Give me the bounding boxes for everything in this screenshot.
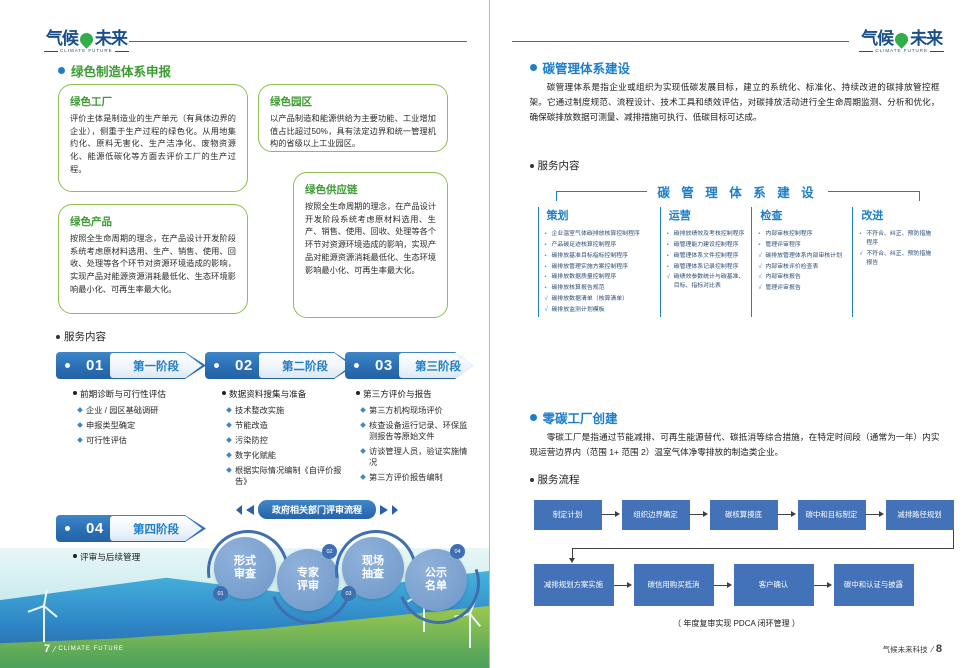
brand-name: 气候未来 xyxy=(46,30,127,47)
bullet-icon xyxy=(56,335,60,339)
header-rule xyxy=(512,41,850,42)
phase-label: 第一阶段 xyxy=(133,358,179,374)
left-page-heading-text: 绿色制造体系申报 xyxy=(71,61,171,80)
carbon-mgmt-body: 碳管理体系是指企业或组织为实现低碳发展目标，建立的系统化、标准化、持续改进的碳排… xyxy=(530,80,940,125)
page-right: 气候未来 CLIMATE FUTURE 碳管理体系建设 碳管理体系是指企业或组织… xyxy=(489,0,978,668)
carbon-mgmt-heading: 碳管理体系建设 xyxy=(530,58,631,77)
table-cell: √内部审核评价检查表 xyxy=(758,263,846,272)
phase-number: 02 xyxy=(235,357,253,374)
table-cell: √管理评审报告 xyxy=(758,284,846,293)
brand-logo: 气候未来 CLIMATE FUTURE xyxy=(859,30,944,54)
right-service-heading-text: 服务内容 xyxy=(538,158,580,173)
dot-icon xyxy=(214,363,219,368)
bullet-icon xyxy=(356,391,360,395)
dot-icon xyxy=(65,526,70,531)
phase-main-item: 前期诊断与可行性评估 xyxy=(70,388,196,400)
phase-sub-item: 核查设备运行记录、环保监测报告等原始文件 xyxy=(353,420,473,442)
table-cell: •碳排放核算报告规范 xyxy=(545,284,654,293)
concept-body: 按照全生命周期的理念，在产品设计开发阶段系统考虑原材料选用、生产、销售、使用、回… xyxy=(70,233,236,297)
phase-main-item: 评审与后续管理 xyxy=(70,551,196,563)
flow-box: 客户确认 xyxy=(734,564,814,606)
page-number: 8 xyxy=(936,643,942,655)
zero-carbon-heading-text: 零碳工厂创建 xyxy=(543,408,618,427)
concept-body: 按照全生命周期的理念，在产品设计开发阶段系统考虑原材料选用、生产、销售、使用、回… xyxy=(305,201,436,277)
bullet-icon xyxy=(530,164,534,168)
gov-ribbon-label: 政府相关部门评审流程 xyxy=(258,500,376,519)
phase-sub-item: 污染防控 xyxy=(219,435,345,446)
concept-box-green-product: 绿色产品 按照全生命周期的理念，在产品设计开发阶段系统考虑原材料选用、生产、销售… xyxy=(58,204,248,314)
table-cell: •碳排放管理实施方案控制程序 xyxy=(545,263,654,272)
diamond-icon xyxy=(226,452,232,458)
phase-label: 第三阶段 xyxy=(415,358,461,374)
phase-body: 第三方评价与报告 第三方机构现场评价 核查设备运行记录、环保监测报告等原始文件 … xyxy=(345,388,473,483)
diamond-icon xyxy=(77,437,83,443)
page-left: 气候未来 CLIMATE FUTURE 绿色制造体系申报 绿色工厂 评价主体是制… xyxy=(0,0,489,668)
bullet-icon xyxy=(222,391,226,395)
phase-tag: 01 第一阶段 01 xyxy=(56,352,206,379)
flow-box: 减排规划方案实施 xyxy=(534,564,614,606)
column-header: 策划 xyxy=(547,207,654,223)
phase-main-text: 评审与后续管理 xyxy=(80,551,140,563)
column-header: 运营 xyxy=(669,207,746,223)
column-header: 检查 xyxy=(760,207,846,223)
phase-number: 03 xyxy=(375,357,393,374)
leaf-icon xyxy=(892,30,910,48)
arrow-left-icon xyxy=(246,505,254,515)
flow-box: 减排路径规划 xyxy=(886,500,954,530)
dot-icon xyxy=(354,363,359,368)
brand-name: 气候未来 xyxy=(861,30,942,47)
phase-tag: 04 第四阶段 04 xyxy=(56,515,206,542)
concept-body: 评价主体是制造业的生产单元（有具体边界的企业），侧重于生产过程的绿色化。从用地集… xyxy=(70,113,236,177)
arrow-left-icon xyxy=(236,505,242,515)
carbon-mgmt-heading-text: 碳管理体系建设 xyxy=(543,58,631,77)
table-cell: •碳管理体系文件控制程序 xyxy=(667,252,746,261)
phase-tag: 03 第三阶段 03 xyxy=(345,352,473,379)
table-cell: •碳管理体系记录控制程序 xyxy=(667,263,746,272)
phase-corner-num: 03 xyxy=(459,354,465,360)
leaf-icon xyxy=(77,30,95,48)
footer-label: CLIMATE FUTURE xyxy=(58,646,124,652)
table-cell: •碳排放数据质量控制程序 xyxy=(545,273,654,282)
left-service-heading-text: 服务内容 xyxy=(64,329,106,344)
column-header: 改进 xyxy=(861,207,931,223)
table-cell: √碳排放监测计划模板 xyxy=(545,306,654,315)
concept-title: 绿色工厂 xyxy=(70,94,236,109)
phase-sub-item: 根据实际情况编制《自评价报告》 xyxy=(219,465,345,487)
phase-label-plate: 第四阶段 xyxy=(110,516,202,541)
phase-body: 评审与后续管理 xyxy=(56,551,196,563)
bullet-icon xyxy=(530,414,537,421)
phase-corner-num: 04 xyxy=(192,517,198,523)
flow-caption: （ 年度复审实现 PDCA 闭环管理 ） xyxy=(522,618,952,629)
diamond-icon xyxy=(360,474,366,480)
flow-heading-text: 服务流程 xyxy=(538,472,580,487)
table-cell: •碳管理能力建设控制程序 xyxy=(667,241,746,250)
phase-main-item: 数据资料搜集与准备 xyxy=(219,388,345,400)
concept-box-green-supply-chain: 绿色供应链 按照全生命周期的理念，在产品设计开发阶段系统考虑原材料选用、生产、销… xyxy=(293,172,448,318)
table-cell: •企业温室气体碳排放核算控制程序 xyxy=(545,230,654,239)
phase-sub-item: 数字化赋能 xyxy=(219,450,345,461)
table-column-improve: 改进 •不符合、纠正、预防措施程序 √不符合、纠正、预防措施报告 xyxy=(852,207,937,317)
phase-sub-item: 可行性评估 xyxy=(70,435,196,446)
phase-main-text: 前期诊断与可行性评估 xyxy=(80,388,166,400)
brand-subtitle: CLIMATE FUTURE xyxy=(44,49,129,54)
phase-body: 前期诊断与可行性评估 企业 / 园区基础调研 申报类型确定 可行性评估 xyxy=(56,388,196,446)
diamond-icon xyxy=(360,407,366,413)
left-service-heading: 服务内容 xyxy=(56,329,106,344)
footer-left: 7 / CLIMATE FUTURE xyxy=(44,643,124,655)
phase-sub-item: 节能改造 xyxy=(219,420,345,431)
footer-right: 气候未来科技 / 8 xyxy=(883,643,942,655)
table-columns: 策划 •企业温室气体碳排放核算控制程序 •产品碳足迹核算控制程序 •碳排放基准目… xyxy=(538,207,938,317)
brand-logo: 气候未来 CLIMATE FUTURE xyxy=(44,30,129,54)
table-cell: √碳排放数据清单（核算清单） xyxy=(545,295,654,304)
wind-turbine-icon xyxy=(24,596,64,642)
gov-review-ribbon: 政府相关部门评审流程 xyxy=(236,500,398,519)
bullet-icon xyxy=(530,478,534,482)
arrow-right-icon xyxy=(392,505,398,515)
flow-box: 碳中和认证与披露 xyxy=(834,564,914,606)
concept-body: 以产品制造和能源供给为主要功能、工业增加值占比超过50%，具有法定边界和统一管理… xyxy=(270,113,436,151)
phase-sub-item: 访谈管理人员，验证实施情况 xyxy=(353,446,473,468)
zero-carbon-heading: 零碳工厂创建 xyxy=(530,408,618,427)
bullet-icon xyxy=(530,64,537,71)
phase-number: 04 xyxy=(86,520,104,537)
table-cell: •管理评审程序 xyxy=(758,241,846,250)
table-cell: √碳绩效参数统计与碳基准、目标、指标对比表 xyxy=(667,273,746,291)
bullet-icon xyxy=(73,391,77,395)
diamond-icon xyxy=(226,467,232,473)
diamond-icon xyxy=(77,407,83,413)
footer-label: 气候未来科技 xyxy=(883,644,928,655)
phase-card-02: 02 第二阶段 02 数据资料搜集与准备 技术整改实施 节能改造 xyxy=(205,352,345,491)
step-badge: 04 xyxy=(450,544,465,559)
phase-label-plate: 第一阶段 xyxy=(110,353,202,378)
table-cell: •产品碳足迹核算控制程序 xyxy=(545,241,654,250)
phase-sub-item: 企业 / 园区基础调研 xyxy=(70,405,196,416)
document-spread: 气候未来 CLIMATE FUTURE 绿色制造体系申报 绿色工厂 评价主体是制… xyxy=(0,0,978,668)
table-cell: •碳排放基准目标指标控制程序 xyxy=(545,252,654,261)
table-cell: •不符合、纠正、预防措施程序 xyxy=(859,230,931,248)
bullet-icon xyxy=(73,554,77,558)
diamond-icon xyxy=(360,422,366,428)
flow-box: 碳中和目标制定 xyxy=(798,500,866,530)
concept-box-green-park: 绿色园区 以产品制造和能源供给为主要功能、工业增加值占比超过50%，具有法定边界… xyxy=(258,84,448,152)
brand-header-right: 气候未来 CLIMATE FUTURE xyxy=(490,30,978,54)
table-title: 碳 管 理 体 系 建 设 xyxy=(538,182,938,201)
phase-label: 第四阶段 xyxy=(133,521,179,537)
phase-sub-item: 技术整改实施 xyxy=(219,405,345,416)
phase-card-04: 04 第四阶段 04 评审与后续管理 xyxy=(56,515,196,568)
concept-title: 绿色供应链 xyxy=(305,182,436,197)
step-badge: 03 xyxy=(341,586,356,601)
phase-label: 第二阶段 xyxy=(282,358,328,374)
table-title-text: 碳 管 理 体 系 建 设 xyxy=(647,186,827,200)
phase-main-item: 第三方评价与报告 xyxy=(353,388,473,400)
arrow-right-icon xyxy=(380,505,388,515)
concept-title: 绿色产品 xyxy=(70,214,236,229)
table-cell: √内部审核报告 xyxy=(758,273,846,282)
brand-header-left: 气候未来 CLIMATE FUTURE xyxy=(0,30,489,54)
phase-main-text: 数据资料搜集与准备 xyxy=(229,388,306,400)
phase-main-text: 第三方评价与报告 xyxy=(363,388,432,400)
brand-subtitle: CLIMATE FUTURE xyxy=(859,49,944,54)
service-flow-diagram: 制定计划 组织边界确定 碳核算摸底 碳中和目标制定 减排路径规划 减排规划方案实… xyxy=(522,496,952,636)
phase-label-plate: 第三阶段 xyxy=(399,353,477,378)
flow-heading: 服务流程 xyxy=(530,472,580,487)
phase-body: 数据资料搜集与准备 技术整改实施 节能改造 污染防控 数字化赋能 xyxy=(205,388,345,487)
phase-sub-item: 第三方评价报告编制 xyxy=(353,472,473,483)
phase-number: 01 xyxy=(86,357,104,374)
dot-icon xyxy=(65,363,70,368)
bullet-icon xyxy=(58,67,65,74)
table-cell: √碳排放管理体系内部审核计划 xyxy=(758,252,846,261)
table-column-planning: 策划 •企业温室气体碳排放核算控制程序 •产品碳足迹核算控制程序 •碳排放基准目… xyxy=(538,207,660,317)
flow-box: 组织边界确定 xyxy=(622,500,690,530)
step-badge: 01 xyxy=(213,586,228,601)
table-cell: •碳排放绩效及考核控制程序 xyxy=(667,230,746,239)
slash-icon: / xyxy=(929,645,934,654)
phase-corner-num: 01 xyxy=(192,354,198,360)
concept-box-green-factory: 绿色工厂 评价主体是制造业的生产单元（有具体边界的企业），侧重于生产过程的绿色化… xyxy=(58,84,248,192)
diamond-icon xyxy=(226,422,232,428)
carbon-mgmt-table: 碳 管 理 体 系 建 设 策划 •企业温室气体碳排放核算控制程序 •产品碳足迹… xyxy=(538,182,938,317)
concept-title: 绿色园区 xyxy=(270,94,436,109)
diamond-icon xyxy=(226,437,232,443)
page-number: 7 xyxy=(44,643,50,655)
phase-card-01: 01 第一阶段 01 前期诊断与可行性评估 企业 / 园区基础调研 申报类型确定 xyxy=(56,352,196,450)
table-column-operation: 运营 •碳排放绩效及考核控制程序 •碳管理能力建设控制程序 •碳管理体系文件控制… xyxy=(660,207,752,317)
right-service-heading: 服务内容 xyxy=(530,158,580,173)
slash-icon: / xyxy=(52,645,57,654)
phase-card-03: 03 第三阶段 03 第三方评价与报告 第三方机构现场评价 核查设备运行记录、环… xyxy=(345,352,473,487)
left-page-heading: 绿色制造体系申报 xyxy=(58,61,171,80)
flow-box: 碳信用购买抵消 xyxy=(634,564,714,606)
diamond-icon xyxy=(77,422,83,428)
diamond-icon xyxy=(226,407,232,413)
table-cell: √不符合、纠正、预防措施报告 xyxy=(859,250,931,268)
flow-box: 制定计划 xyxy=(534,500,602,530)
table-column-check: 检查 •内部审核控制程序 •管理评审程序 √碳排放管理体系内部审核计划 √内部审… xyxy=(751,207,852,317)
review-step-4: 公示 名单 04 xyxy=(396,540,476,620)
zero-carbon-body: 零碳工厂是指通过节能减排、可再生能源替代、碳抵消等综合措施，在特定时间段（通常为… xyxy=(530,430,940,460)
header-rule xyxy=(129,41,467,42)
diamond-icon xyxy=(360,448,366,454)
phase-label-plate: 第二阶段 xyxy=(259,353,351,378)
table-cell: •内部审核控制程序 xyxy=(758,230,846,239)
phase-sub-item: 第三方机构现场评价 xyxy=(353,405,473,416)
phase-sub-item: 申报类型确定 xyxy=(70,420,196,431)
phase-tag: 02 第二阶段 02 xyxy=(205,352,355,379)
flow-box: 碳核算摸底 xyxy=(710,500,778,530)
